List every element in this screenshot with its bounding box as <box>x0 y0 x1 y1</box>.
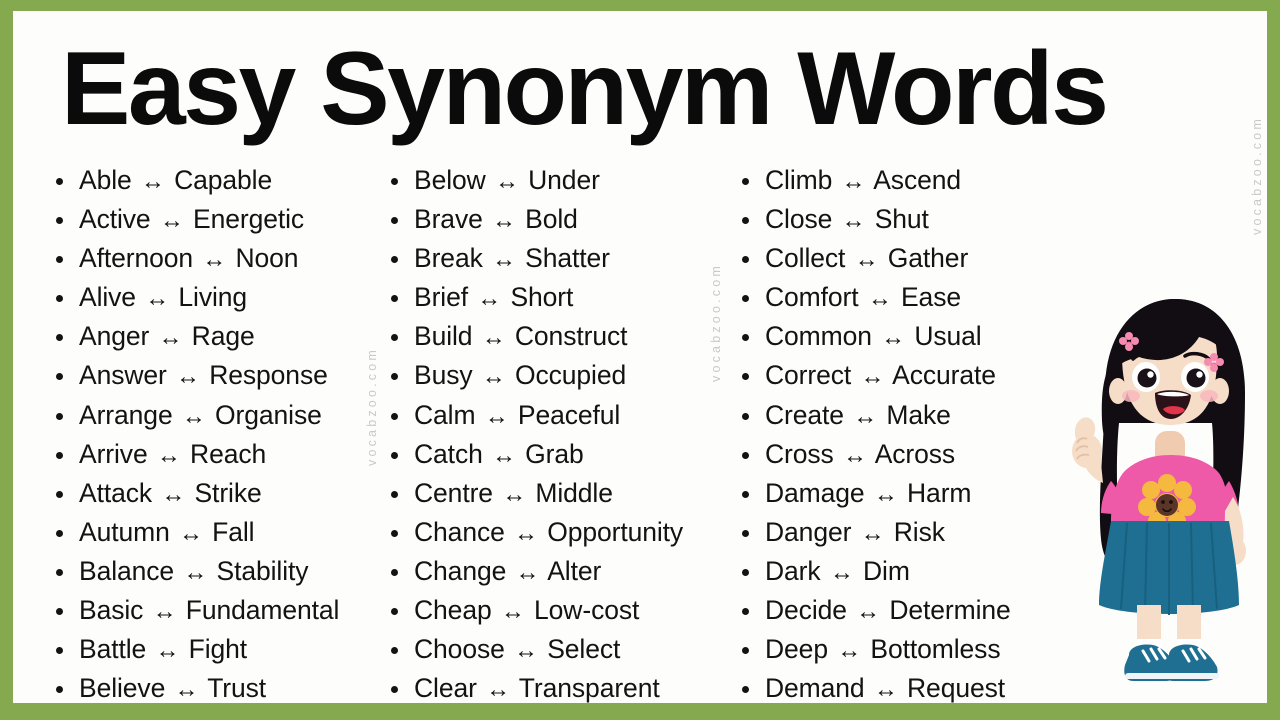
word: Able <box>79 165 132 195</box>
word: Decide <box>765 595 847 625</box>
double-arrow-icon: ↔ <box>512 521 540 548</box>
list-item: Centre ↔ Middle <box>388 480 721 509</box>
word: Believe <box>79 673 165 703</box>
double-arrow-icon: ↔ <box>499 599 527 626</box>
column-1: Able ↔ Capable Active ↔ Energetic Aftern… <box>13 167 361 703</box>
word: Autumn <box>79 517 170 547</box>
synonym: Response <box>209 360 328 390</box>
word: Dark <box>765 556 821 586</box>
synonym: Ease <box>901 282 961 312</box>
double-arrow-icon: ↔ <box>139 169 167 196</box>
double-arrow-icon: ↔ <box>853 247 881 274</box>
list-item: Change ↔ Alter <box>388 558 721 587</box>
list-item: Brief ↔ Short <box>388 284 721 313</box>
list-item: Comfort ↔ Ease <box>739 284 1101 313</box>
page-title: Easy Synonym Words <box>61 33 1106 145</box>
list-item: Autumn ↔ Fall <box>53 519 361 548</box>
list-item: Alive ↔ Living <box>53 284 361 313</box>
word: Collect <box>765 243 845 273</box>
list-item: Arrange ↔ Organise <box>53 402 361 431</box>
double-arrow-icon: ↔ <box>177 521 205 548</box>
synonym: Strike <box>194 478 261 508</box>
word: Danger <box>765 517 851 547</box>
synonym: Middle <box>535 478 612 508</box>
synonym: Occupied <box>515 360 626 390</box>
word: Cheap <box>414 595 492 625</box>
double-arrow-icon: ↔ <box>858 364 886 391</box>
word: Deep <box>765 634 828 664</box>
word: Alive <box>79 282 136 312</box>
list-item: Build ↔ Construct <box>388 323 721 352</box>
synonym: Reach <box>190 439 266 469</box>
word: Anger <box>79 321 149 351</box>
word: Catch <box>414 439 483 469</box>
watermark-right-edge: vocabzoo.com <box>1250 116 1264 235</box>
word: Busy <box>414 360 473 390</box>
synonym: Rage <box>192 321 255 351</box>
word: Break <box>414 243 483 273</box>
double-arrow-icon: ↔ <box>854 599 882 626</box>
double-arrow-icon: ↔ <box>159 482 187 509</box>
double-arrow-icon: ↔ <box>490 443 518 470</box>
synonym: Harm <box>907 478 971 508</box>
column-2: Below ↔ Under Brave ↔ Bold Break ↔ Shatt… <box>361 167 721 703</box>
double-arrow-icon: ↔ <box>143 286 171 313</box>
double-arrow-icon: ↔ <box>851 404 879 431</box>
double-arrow-icon: ↔ <box>174 364 202 391</box>
double-arrow-icon: ↔ <box>828 560 856 587</box>
list-item: Busy ↔ Occupied <box>388 362 721 391</box>
double-arrow-icon: ↔ <box>483 404 511 431</box>
synonym: Across <box>875 439 955 469</box>
double-arrow-icon: ↔ <box>872 677 900 703</box>
synonym: Capable <box>174 165 272 195</box>
synonym: Usual <box>914 321 981 351</box>
list-item: Collect ↔ Gather <box>739 245 1101 274</box>
word: Comfort <box>765 282 859 312</box>
synonym: Transparent <box>519 673 660 703</box>
synonym: Accurate <box>892 360 996 390</box>
synonym: Grab <box>525 439 584 469</box>
double-arrow-icon: ↔ <box>835 638 863 665</box>
word: Clear <box>414 673 477 703</box>
synonym: Short <box>510 282 573 312</box>
list-item: Answer ↔ Response <box>53 362 361 391</box>
double-arrow-icon: ↔ <box>866 286 894 313</box>
word: Common <box>765 321 872 351</box>
synonym: Shatter <box>525 243 610 273</box>
list-item: Break ↔ Shatter <box>388 245 721 274</box>
word: Change <box>414 556 506 586</box>
synonym: Bottomless <box>870 634 1000 664</box>
synonym: Fight <box>189 634 247 664</box>
double-arrow-icon: ↔ <box>180 404 208 431</box>
list-item: Deep ↔ Bottomless <box>739 636 1101 665</box>
word: Afternoon <box>79 243 193 273</box>
word: Calm <box>414 400 475 430</box>
list-item: Danger ↔ Risk <box>739 519 1101 548</box>
cartoon-girl-illustration <box>1067 283 1267 703</box>
poster-canvas: Easy Synonym Words Able ↔ Capable Active… <box>13 11 1267 703</box>
list-item: Cheap ↔ Low-cost <box>388 597 721 626</box>
synonym-list-3: Climb ↔ Ascend Close ↔ Shut Collect ↔ Ga… <box>739 167 1101 703</box>
word: Battle <box>79 634 146 664</box>
synonym: Gather <box>888 243 968 273</box>
synonym: Stability <box>217 556 309 586</box>
double-arrow-icon: ↔ <box>156 325 184 352</box>
synonym: Opportunity <box>547 517 683 547</box>
word: Arrive <box>79 439 148 469</box>
list-item: Able ↔ Capable <box>53 167 361 196</box>
word: Balance <box>79 556 174 586</box>
word: Choose <box>414 634 505 664</box>
word: Attack <box>79 478 152 508</box>
word: Build <box>414 321 472 351</box>
double-arrow-icon: ↔ <box>490 247 518 274</box>
list-item: Afternoon ↔ Noon <box>53 245 361 274</box>
synonym: Living <box>178 282 247 312</box>
synonym: Under <box>528 165 600 195</box>
list-item: Brave ↔ Bold <box>388 206 721 235</box>
word: Correct <box>765 360 851 390</box>
double-arrow-icon: ↔ <box>879 325 907 352</box>
list-item: Below ↔ Under <box>388 167 721 196</box>
list-item: Damage ↔ Harm <box>739 480 1101 509</box>
list-item: Calm ↔ Peaceful <box>388 402 721 431</box>
synonym: Construct <box>515 321 628 351</box>
word: Basic <box>79 595 143 625</box>
double-arrow-icon: ↔ <box>840 169 868 196</box>
list-item: Close ↔ Shut <box>739 206 1101 235</box>
column-3: Climb ↔ Ascend Close ↔ Shut Collect ↔ Ga… <box>721 167 1101 703</box>
double-arrow-icon: ↔ <box>484 677 512 703</box>
word: Answer <box>79 360 167 390</box>
synonym: Energetic <box>193 204 304 234</box>
synonym: Determine <box>889 595 1010 625</box>
word: Demand <box>765 673 865 703</box>
double-arrow-icon: ↔ <box>200 247 228 274</box>
double-arrow-icon: ↔ <box>480 325 508 352</box>
list-item: Chance ↔ Opportunity <box>388 519 721 548</box>
list-item: Create ↔ Make <box>739 402 1101 431</box>
word: Brave <box>414 204 483 234</box>
word: Centre <box>414 478 493 508</box>
synonym-list-1: Able ↔ Capable Active ↔ Energetic Aftern… <box>53 167 361 703</box>
synonym: Fall <box>212 517 254 547</box>
double-arrow-icon: ↔ <box>475 286 503 313</box>
list-item: Dark ↔ Dim <box>739 558 1101 587</box>
double-arrow-icon: ↔ <box>480 364 508 391</box>
synonym: Fundamental <box>186 595 340 625</box>
list-item: Climb ↔ Ascend <box>739 167 1101 196</box>
synonym: Dim <box>863 556 910 586</box>
double-arrow-icon: ↔ <box>872 482 900 509</box>
synonym: Request <box>907 673 1005 703</box>
synonym: Organise <box>215 400 322 430</box>
double-arrow-icon: ↔ <box>181 560 209 587</box>
double-arrow-icon: ↔ <box>500 482 528 509</box>
poster-root: Easy Synonym Words Able ↔ Capable Active… <box>0 0 1280 720</box>
list-item: Believe ↔ Trust <box>53 675 361 703</box>
watermark-column-two: vocabzoo.com <box>709 263 723 382</box>
list-item: Basic ↔ Fundamental <box>53 597 361 626</box>
word: Arrange <box>79 400 173 430</box>
list-item: Demand ↔ Request <box>739 675 1101 703</box>
synonym: Noon <box>235 243 298 273</box>
synonym: Bold <box>525 204 578 234</box>
word: Climb <box>765 165 832 195</box>
synonym: Make <box>886 400 950 430</box>
double-arrow-icon: ↔ <box>151 599 179 626</box>
word: Brief <box>414 282 468 312</box>
synonym: Select <box>547 634 620 664</box>
double-arrow-icon: ↔ <box>841 443 869 470</box>
synonym: Risk <box>894 517 945 547</box>
double-arrow-icon: ↔ <box>158 208 186 235</box>
list-item: Battle ↔ Fight <box>53 636 361 665</box>
synonym: Low-cost <box>534 595 639 625</box>
synonym: Ascend <box>873 165 961 195</box>
double-arrow-icon: ↔ <box>859 521 887 548</box>
double-arrow-icon: ↔ <box>153 638 181 665</box>
word: Damage <box>765 478 865 508</box>
double-arrow-icon: ↔ <box>512 638 540 665</box>
double-arrow-icon: ↔ <box>840 208 868 235</box>
list-item: Cross ↔ Across <box>739 441 1101 470</box>
double-arrow-icon: ↔ <box>514 560 542 587</box>
synonym-list-2: Below ↔ Under Brave ↔ Bold Break ↔ Shatt… <box>388 167 721 703</box>
list-item: Decide ↔ Determine <box>739 597 1101 626</box>
double-arrow-icon: ↔ <box>155 443 183 470</box>
list-item: Catch ↔ Grab <box>388 441 721 470</box>
word: Below <box>414 165 486 195</box>
watermark-column-one: vocabzoo.com <box>365 347 379 466</box>
list-item: Attack ↔ Strike <box>53 480 361 509</box>
list-item: Common ↔ Usual <box>739 323 1101 352</box>
list-item: Clear ↔ Transparent <box>388 675 721 703</box>
synonym: Trust <box>207 673 266 703</box>
synonym: Alter <box>547 556 601 586</box>
list-item: Arrive ↔ Reach <box>53 441 361 470</box>
list-item: Balance ↔ Stability <box>53 558 361 587</box>
synonym: Shut <box>875 204 929 234</box>
list-item: Choose ↔ Select <box>388 636 721 665</box>
double-arrow-icon: ↔ <box>490 208 518 235</box>
list-item: Anger ↔ Rage <box>53 323 361 352</box>
word: Close <box>765 204 832 234</box>
list-item: Active ↔ Energetic <box>53 206 361 235</box>
double-arrow-icon: ↔ <box>493 169 521 196</box>
word: Create <box>765 400 844 430</box>
synonym: Peaceful <box>518 400 620 430</box>
word: Cross <box>765 439 834 469</box>
list-item: Correct ↔ Accurate <box>739 362 1101 391</box>
word: Active <box>79 204 151 234</box>
double-arrow-icon: ↔ <box>172 677 200 703</box>
word: Chance <box>414 517 505 547</box>
